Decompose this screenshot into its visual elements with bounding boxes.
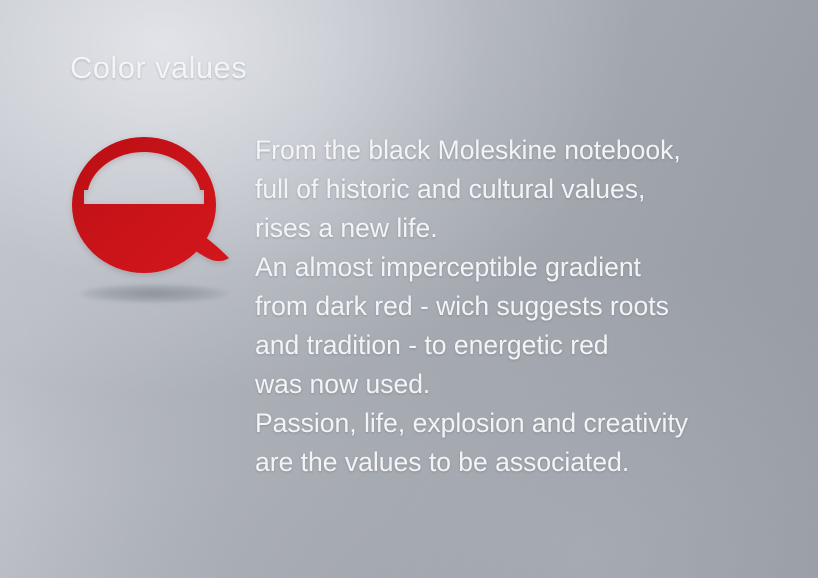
body-line: full of historic and cultural values, [255,170,775,209]
body-line: was now used. [255,365,775,404]
body-copy: From the black Moleskine notebook, full … [255,131,775,482]
body-line: rises a new life. [255,209,775,248]
e-logo-icon [66,130,238,280]
body-line: An almost imperceptible gradient [255,248,775,287]
body-line: are the values to be associated. [255,443,775,482]
body-line: Passion, life, explosion and creativity [255,404,775,443]
body-line: From the black Moleskine notebook, [255,131,775,170]
page-title: Color values [70,50,247,86]
logo-drop-shadow [80,284,228,303]
slide-canvas: Color values [0,0,818,578]
logo-container [66,130,238,320]
body-line: and tradition - to energetic red [255,326,775,365]
body-line: from dark red - wich suggests roots [255,287,775,326]
